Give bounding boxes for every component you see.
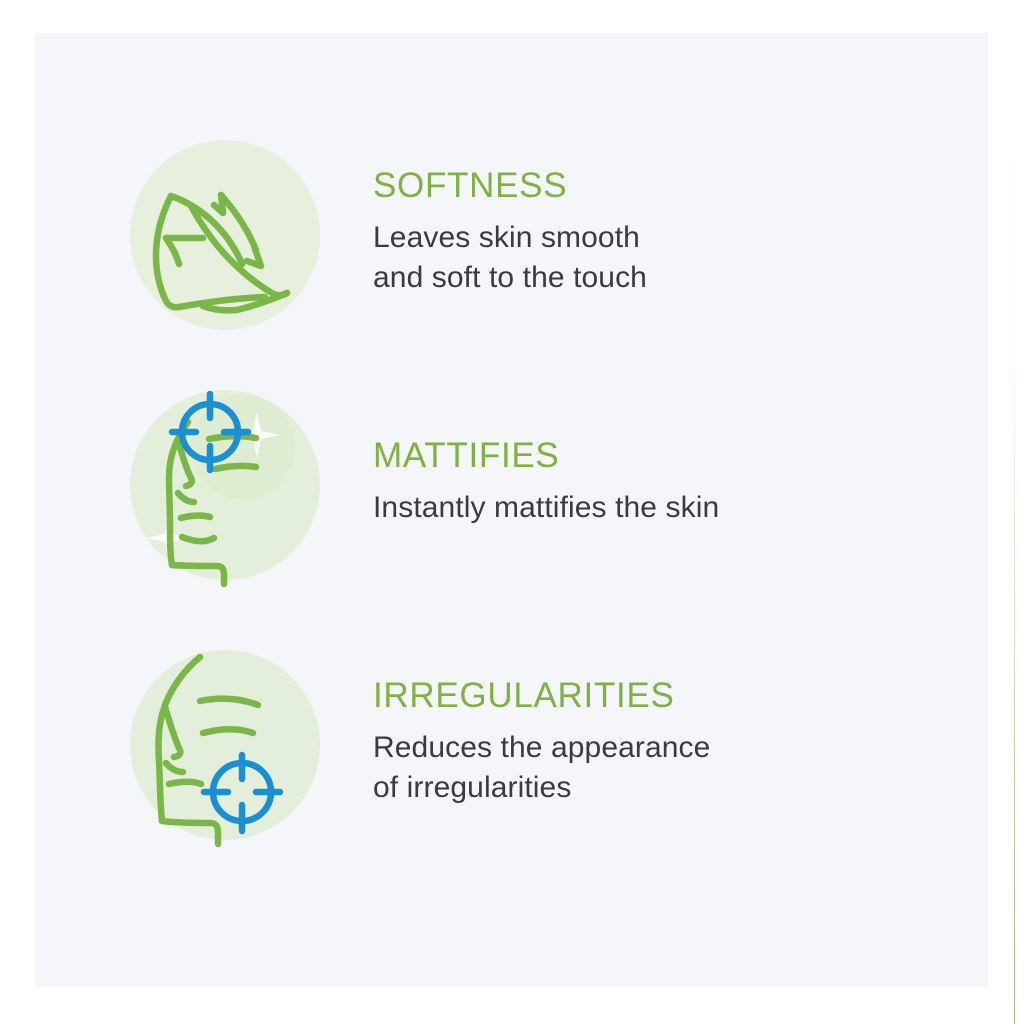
feature-title: SOFTNESS [373,168,647,205]
face-cheek-target-icon [125,645,325,845]
feature-text: MATTIFIES Instantly mattifies the skin [373,438,719,533]
feature-row: IRREGULARITIES Reduces the appearance of… [125,645,710,845]
feature-row: MATTIFIES Instantly mattifies the skin [125,385,719,585]
right-edge-rule [1014,0,1015,1024]
feature-description: Leaves skin smooth and soft to the touch [373,218,647,298]
feature-title: IRREGULARITIES [373,678,710,715]
feature-row: SOFTNESS Leaves skin smooth and soft to … [125,135,647,335]
feature-panel: SOFTNESS Leaves skin smooth and soft to … [35,33,988,987]
feature-text: SOFTNESS Leaves skin smooth and soft to … [373,168,647,303]
feature-title: MATTIFIES [373,438,719,475]
face-forehead-target-icon [125,385,325,585]
feature-description: Reduces the appearance of irregularities [373,728,710,808]
feather-icon [125,135,325,335]
feature-description: Instantly mattifies the skin [373,488,719,528]
feature-text: IRREGULARITIES Reduces the appearance of… [373,678,710,813]
